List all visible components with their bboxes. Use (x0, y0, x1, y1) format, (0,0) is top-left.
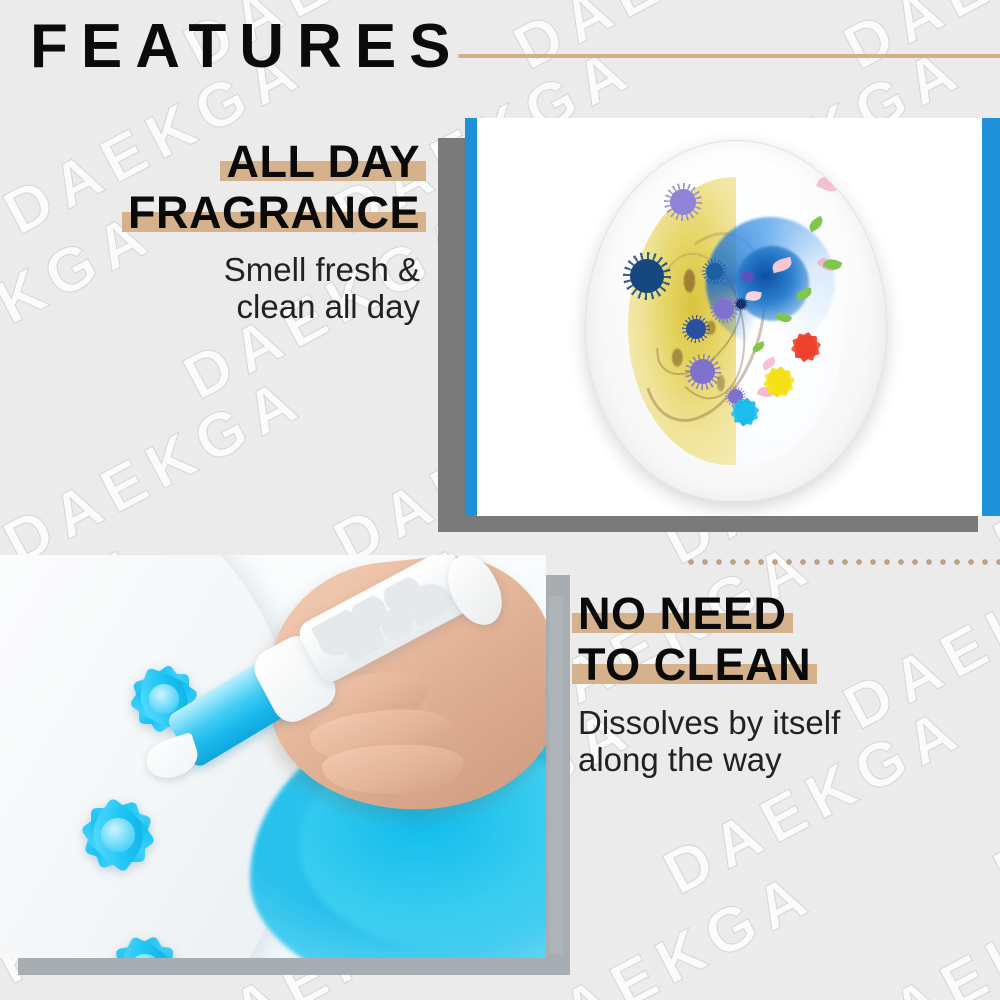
feature-2-subtitle-line1: Dissolves by itself (578, 704, 840, 741)
germ-icon (686, 319, 706, 339)
feature-1-subtitle-line2: clean all day (237, 288, 420, 325)
germ-icon (670, 189, 696, 215)
image-hand-holding-gel-applicator (0, 555, 546, 958)
germ-icon (630, 259, 664, 293)
feature-1-heading-line1: ALL DAY (226, 140, 420, 183)
feature-1-subtitle: Smell fresh & clean all day (0, 252, 420, 326)
watermark-text: DAEKGA (0, 362, 316, 579)
feature-2-heading: NO NEED TO CLEAN (578, 592, 998, 694)
gel-flower-stamp (66, 783, 170, 887)
bottom-text-accent-bar (549, 596, 563, 954)
germ-icon (742, 271, 753, 282)
image-toilet-bowl-before-after (465, 118, 1000, 516)
feature-2-subtitle-line2: along the way (578, 741, 782, 778)
dotted-divider (684, 558, 1000, 566)
page-title: FEATURES (30, 16, 464, 78)
feature-1-heading: ALL DAY FRAGRANCE (0, 140, 420, 242)
gel-flower-blue (722, 389, 768, 435)
germ-icon (714, 299, 734, 319)
toilet-bowl-shape (585, 140, 887, 502)
germ-icon (736, 299, 746, 309)
feature-1-subtitle-line1: Smell fresh & (224, 251, 420, 288)
feature-2-heading-line1: NO NEED (578, 592, 787, 635)
infographic-canvas: DAEKGADAEKGADAEKGADAEKGADAEKGADAEKGADAEK… (0, 0, 1000, 1000)
gel-flower-stamp (96, 921, 194, 958)
header: FEATURES (0, 0, 1000, 110)
feature-1-heading-line2: FRAGRANCE (128, 191, 420, 234)
flower-center (101, 818, 134, 851)
watermark-text: DAEKGA (833, 857, 1000, 1000)
germ-icon (706, 263, 723, 280)
germ-icon (690, 359, 715, 384)
feature-2-subtitle: Dissolves by itself along the way (578, 705, 998, 779)
top-photo-accent-bar-right (982, 118, 1000, 516)
top-photo-accent-bar-left (465, 118, 477, 516)
title-divider-line (458, 54, 1000, 58)
feature-2-heading-line2: TO CLEAN (578, 643, 811, 686)
